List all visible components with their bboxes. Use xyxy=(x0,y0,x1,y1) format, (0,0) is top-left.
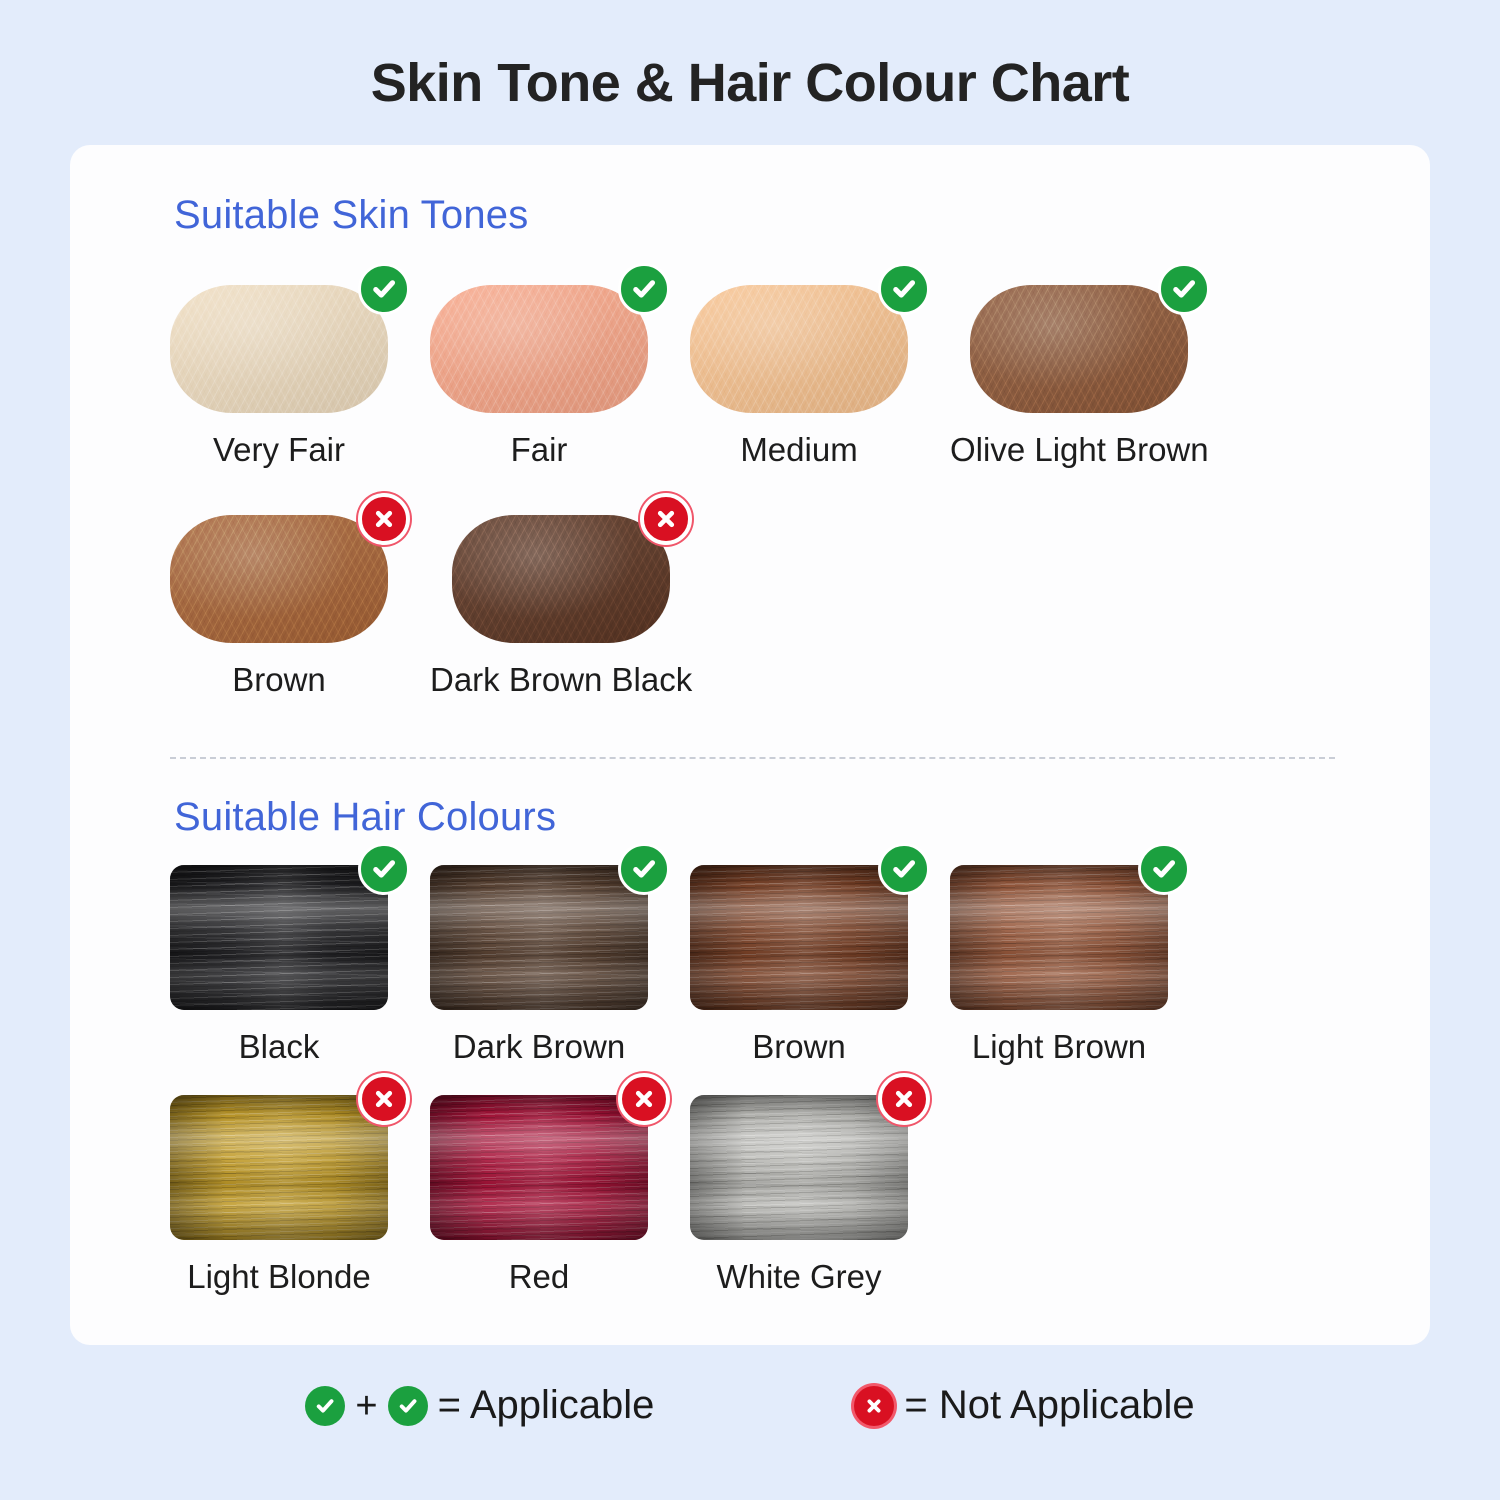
hair-swatch[interactable] xyxy=(690,1095,908,1240)
skin-texture xyxy=(970,285,1188,413)
hair-swatch-cell[interactable]: Light Brown xyxy=(950,865,1168,1066)
hair-sheen xyxy=(170,865,388,1010)
skin-swatch-label: Very Fair xyxy=(213,431,345,469)
swatch-wrapper xyxy=(690,865,908,1010)
swatch-wrapper xyxy=(170,1095,388,1240)
check-badge-icon xyxy=(618,843,670,895)
skin-tone-row-1: Very FairFairMediumOlive Light Brown xyxy=(170,285,1209,469)
skin-texture xyxy=(430,285,648,413)
legend-item-check: += Applicable xyxy=(305,1383,654,1428)
hair-swatch-label: Red xyxy=(509,1258,570,1296)
skin-swatch[interactable] xyxy=(170,515,388,643)
skin-swatch[interactable] xyxy=(452,515,670,643)
hair-sheen xyxy=(690,865,908,1010)
cross-badge-icon xyxy=(358,493,410,545)
check-badge-icon xyxy=(878,263,930,315)
skin-texture xyxy=(452,515,670,643)
check-badge-icon xyxy=(1158,263,1210,315)
swatch-wrapper xyxy=(452,515,670,643)
swatch-wrapper xyxy=(170,515,388,643)
check-badge-icon xyxy=(618,263,670,315)
skin-swatch[interactable] xyxy=(170,285,388,413)
hair-swatch-label: White Grey xyxy=(716,1258,881,1296)
skin-texture xyxy=(170,285,388,413)
hair-sheen xyxy=(950,865,1168,1010)
hair-swatch[interactable] xyxy=(430,1095,648,1240)
cross-badge-icon xyxy=(878,1073,930,1125)
hair-swatch[interactable] xyxy=(430,865,648,1010)
skin-swatch-label: Fair xyxy=(511,431,568,469)
skin-swatch[interactable] xyxy=(970,285,1188,413)
hair-sheen xyxy=(430,865,648,1010)
legend: += Applicable= Not Applicable xyxy=(0,1383,1500,1428)
hair-swatch-cell[interactable]: Brown xyxy=(690,865,908,1066)
skin-texture xyxy=(170,515,388,643)
legend-label: = Not Applicable xyxy=(904,1383,1194,1428)
skin-swatch-label: Olive Light Brown xyxy=(950,431,1209,469)
skin-swatch-cell[interactable]: Olive Light Brown xyxy=(950,285,1209,469)
cross-badge-icon xyxy=(358,1073,410,1125)
swatch-wrapper xyxy=(170,285,388,413)
hair-swatch[interactable] xyxy=(690,865,908,1010)
hair-swatch-label: Brown xyxy=(752,1028,846,1066)
swatch-wrapper xyxy=(170,865,388,1010)
swatch-wrapper xyxy=(950,865,1168,1010)
chart-card: Suitable Skin Tones Very FairFairMediumO… xyxy=(70,145,1430,1345)
skin-swatch-cell[interactable]: Fair xyxy=(430,285,648,469)
hair-swatch-cell[interactable]: Black xyxy=(170,865,388,1066)
skin-texture xyxy=(690,285,908,413)
hair-swatch-cell[interactable]: White Grey xyxy=(690,1095,908,1296)
skin-swatch-cell[interactable]: Dark Brown Black xyxy=(430,515,692,699)
section-heading-skin-tones: Suitable Skin Tones xyxy=(174,193,528,238)
swatch-wrapper xyxy=(970,285,1188,413)
skin-swatch-cell[interactable]: Brown xyxy=(170,515,388,699)
swatch-wrapper xyxy=(430,865,648,1010)
hair-swatch-cell[interactable]: Dark Brown xyxy=(430,865,648,1066)
hair-swatch-cell[interactable]: Red xyxy=(430,1095,648,1296)
hair-swatch-label: Light Brown xyxy=(972,1028,1146,1066)
section-heading-hair-colours: Suitable Hair Colours xyxy=(174,795,556,840)
skin-swatch[interactable] xyxy=(430,285,648,413)
hair-swatch-label: Dark Brown xyxy=(453,1028,625,1066)
cross-badge-icon xyxy=(854,1386,894,1426)
hair-swatch[interactable] xyxy=(170,1095,388,1240)
cross-badge-icon xyxy=(640,493,692,545)
legend-item-cross: = Not Applicable xyxy=(854,1383,1194,1428)
hair-swatch-label: Black xyxy=(239,1028,320,1066)
check-badge-icon xyxy=(388,1386,428,1426)
legend-label: = Applicable xyxy=(438,1383,655,1428)
skin-hair-chart-page: Skin Tone & Hair Colour Chart Suitable S… xyxy=(0,0,1500,1500)
hair-swatch[interactable] xyxy=(950,865,1168,1010)
check-badge-icon xyxy=(358,843,410,895)
skin-tone-row-2: BrownDark Brown Black xyxy=(170,515,692,699)
check-badge-icon xyxy=(1138,843,1190,895)
skin-swatch-label: Medium xyxy=(740,431,857,469)
skin-swatch-label: Dark Brown Black xyxy=(430,661,692,699)
swatch-wrapper xyxy=(690,285,908,413)
skin-swatch-cell[interactable]: Very Fair xyxy=(170,285,388,469)
swatch-wrapper xyxy=(430,1095,648,1240)
hair-swatch[interactable] xyxy=(170,865,388,1010)
skin-swatch-label: Brown xyxy=(232,661,326,699)
legend-plus-symbol: + xyxy=(355,1387,377,1425)
skin-swatch[interactable] xyxy=(690,285,908,413)
hair-colour-row-1: BlackDark BrownBrownLight Brown xyxy=(170,865,1168,1066)
check-badge-icon xyxy=(358,263,410,315)
hair-swatch-label: Light Blonde xyxy=(187,1258,370,1296)
hair-sheen xyxy=(170,1095,388,1240)
check-badge-icon xyxy=(878,843,930,895)
hair-sheen xyxy=(430,1095,648,1240)
page-title: Skin Tone & Hair Colour Chart xyxy=(0,52,1500,114)
hair-sheen xyxy=(690,1095,908,1240)
swatch-wrapper xyxy=(690,1095,908,1240)
section-divider xyxy=(170,757,1335,759)
skin-swatch-cell[interactable]: Medium xyxy=(690,285,908,469)
hair-swatch-cell[interactable]: Light Blonde xyxy=(170,1095,388,1296)
cross-badge-icon xyxy=(618,1073,670,1125)
check-badge-icon xyxy=(305,1386,345,1426)
hair-colour-row-2: Light BlondeRedWhite Grey xyxy=(170,1095,908,1296)
swatch-wrapper xyxy=(430,285,648,413)
